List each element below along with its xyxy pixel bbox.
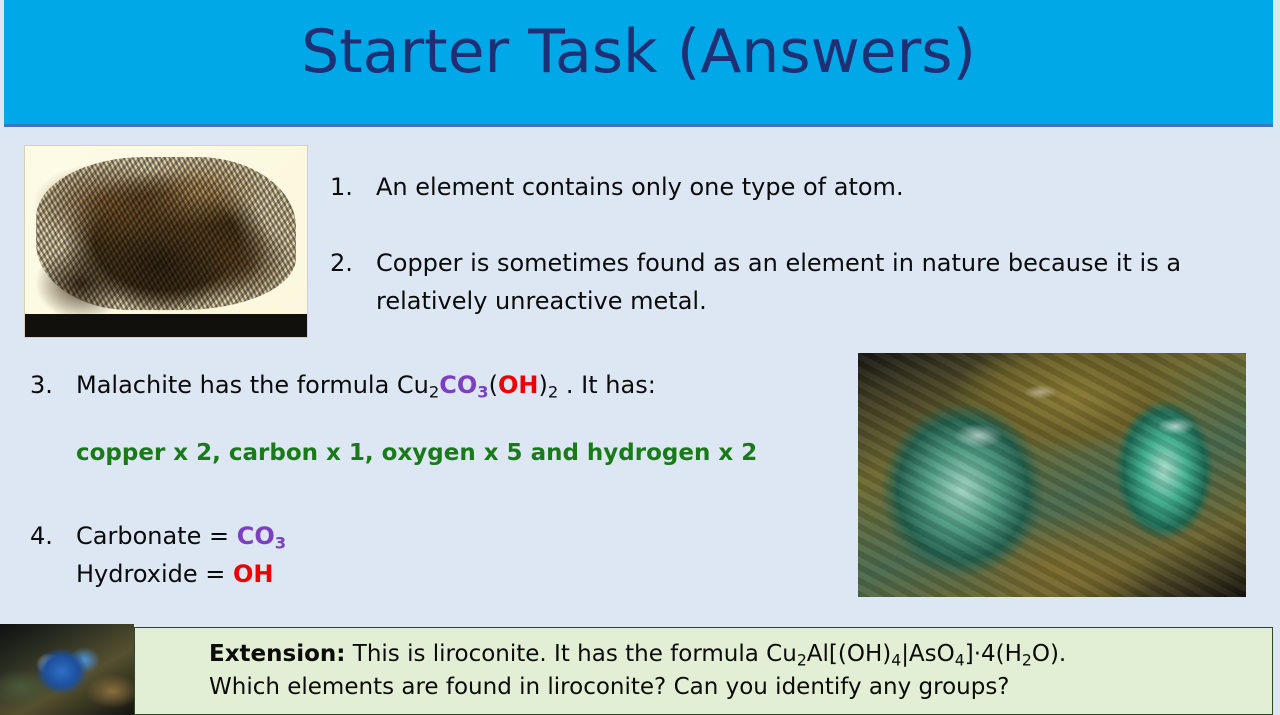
carbonate-formula: CO bbox=[237, 522, 275, 550]
extension-line-1: Extension: This is liroconite. It has th… bbox=[209, 641, 1066, 667]
answer-item-4-text: Carbonate = CO3 Hydroxide = OH bbox=[76, 517, 550, 593]
close-paren: ) bbox=[539, 371, 548, 399]
liroconite-mid-c: ]·4(H bbox=[965, 641, 1022, 667]
liroconite-mid-b: |AsO bbox=[901, 641, 955, 667]
open-paren: ( bbox=[489, 371, 498, 399]
liroconite-oh-subscript: 4 bbox=[891, 650, 901, 669]
hydroxide-label: Hydroxide = bbox=[76, 560, 233, 588]
malachite-lead-text: Malachite has the formula Cu bbox=[76, 371, 429, 399]
answer-item-2-text: Copper is sometimes found as an element … bbox=[376, 244, 1230, 320]
carbonate-label: Carbonate = bbox=[76, 522, 237, 550]
answer-item-3-green-answer: copper x 2, carbon x 1, oxygen x 5 and h… bbox=[76, 440, 757, 466]
hydroxide-subscript: 2 bbox=[548, 383, 558, 402]
answer-item-4-number: 4. bbox=[30, 517, 76, 555]
carbonate-formula-subscript: 3 bbox=[275, 534, 286, 553]
extension-line-2: Which elements are found in liroconite? … bbox=[209, 671, 1258, 704]
page-title: Starter Task (Answers) bbox=[4, 17, 1273, 87]
hydroxide-formula: OH bbox=[233, 560, 274, 588]
liroconite-mid-d: O). bbox=[1032, 641, 1066, 667]
liroconite-specimen-image bbox=[0, 624, 134, 715]
liroconite-h2o-subscript: 2 bbox=[1022, 650, 1032, 669]
extension-sentence-a: This is liroconite. It has the formula C… bbox=[345, 641, 796, 667]
extension-label: Extension: bbox=[209, 641, 345, 667]
extension-box: Extension: This is liroconite. It has th… bbox=[134, 627, 1273, 715]
malachite-specimen-image bbox=[858, 353, 1246, 597]
carbonate-group: CO bbox=[439, 371, 477, 399]
answer-item-3: 3. Malachite has the formula Cu2CO3(OH)2… bbox=[30, 366, 850, 404]
liroconite-mid-a: Al[(OH) bbox=[807, 641, 891, 667]
answer-item-3-text: Malachite has the formula Cu2CO3(OH)2 . … bbox=[76, 366, 850, 404]
answer-item-1: 1. An element contains only one type of … bbox=[330, 168, 1230, 206]
liroconite-aso-subscript: 4 bbox=[955, 650, 965, 669]
answer-item-2: 2. Copper is sometimes found as an eleme… bbox=[330, 244, 1230, 320]
answer-item-4-line-1: Carbonate = CO3 bbox=[76, 517, 550, 555]
answer-item-3-number: 3. bbox=[30, 366, 76, 404]
answer-item-1-text: An element contains only one type of ato… bbox=[376, 168, 1230, 206]
extension-text: Extension: This is liroconite. It has th… bbox=[209, 638, 1258, 704]
title-banner: Starter Task (Answers) bbox=[4, 0, 1273, 127]
liroconite-cu-subscript: 2 bbox=[797, 650, 807, 669]
answer-item-4-line-2: Hydroxide = OH bbox=[76, 555, 550, 593]
answer-item-1-number: 1. bbox=[330, 168, 376, 206]
carbonate-subscript: 3 bbox=[477, 383, 488, 402]
answer-item-2-number: 2. bbox=[330, 244, 376, 282]
hydroxide-group: OH bbox=[498, 371, 539, 399]
malachite-tail-text: . It has: bbox=[558, 371, 656, 399]
native-copper-specimen-image bbox=[24, 145, 308, 338]
answer-item-4: 4. Carbonate = CO3 Hydroxide = OH bbox=[30, 517, 550, 593]
cu-subscript: 2 bbox=[429, 383, 439, 402]
